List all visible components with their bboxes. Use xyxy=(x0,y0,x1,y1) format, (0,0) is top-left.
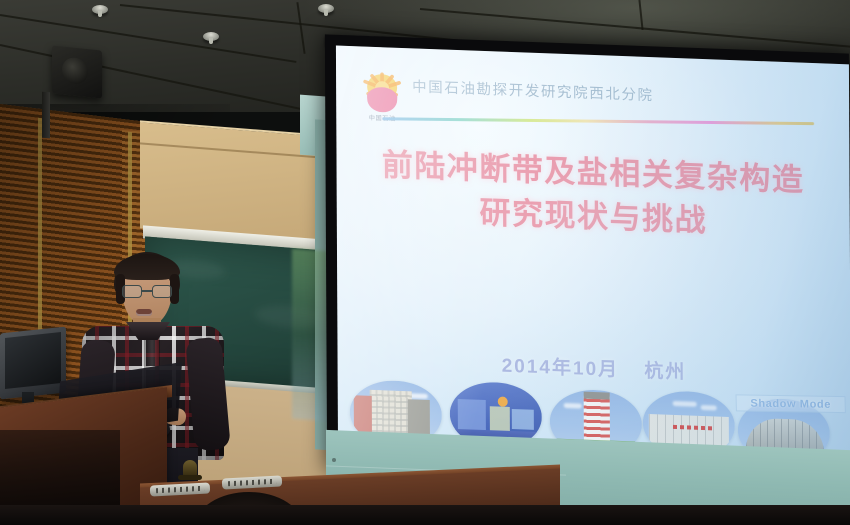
speaker-mount-arm xyxy=(42,92,50,139)
monitor-screen xyxy=(5,332,61,389)
screenshot-root: 中国石油 中国石油勘探开发研究院西北分院 前陆冲断带及盐相关复杂构造 研究现状与… xyxy=(0,0,850,525)
speaker-cone-icon xyxy=(62,56,88,85)
desk-bell-base xyxy=(178,475,202,480)
screen-sheen xyxy=(336,46,850,479)
sprinkler-icon xyxy=(203,32,219,41)
wall-fixture xyxy=(332,458,336,462)
slide: 中国石油 中国石油勘探开发研究院西北分院 前陆冲断带及盐相关复杂构造 研究现状与… xyxy=(336,46,850,479)
presenter-mouth xyxy=(136,309,152,316)
wall-speaker xyxy=(52,45,102,98)
desktop-monitor[interactable] xyxy=(0,327,66,400)
sprinkler-icon xyxy=(318,4,334,13)
eyeglasses-icon xyxy=(122,285,172,298)
projection-screen[interactable]: 中国石油 中国石油勘探开发研究院西北分院 前陆冲断带及盐相关复杂构造 研究现状与… xyxy=(336,46,850,479)
sprinkler-icon xyxy=(92,5,108,14)
foreground-desk-edge xyxy=(0,505,850,525)
